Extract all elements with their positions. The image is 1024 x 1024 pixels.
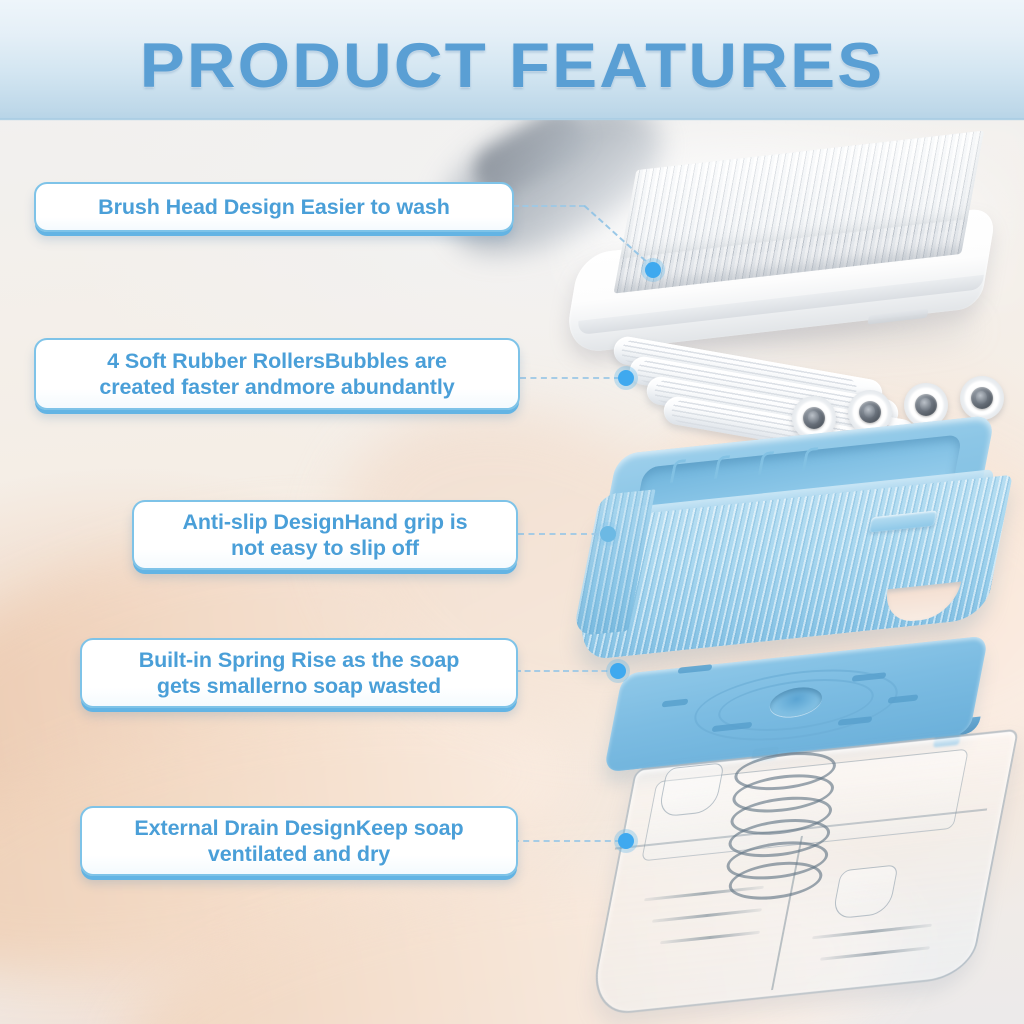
leader-dot-tray (610, 663, 626, 679)
leader-line-brush-head (513, 205, 585, 207)
roller-hub (859, 401, 881, 423)
brush-head-part (556, 148, 1016, 348)
feature-callout-external-drain[interactable]: External Drain DesignKeep soap ventilate… (80, 806, 518, 876)
feature-text-line: Built-in Spring Rise as the soap (139, 647, 460, 673)
feature-callout-anti-slip[interactable]: Anti-slip DesignHand grip is not easy to… (132, 500, 518, 570)
feature-text-line: 4 Soft Rubber RollersBubbles are (107, 348, 447, 374)
feature-text-line: gets smallerno soap wasted (157, 673, 441, 699)
feature-callout-spring[interactable]: Built-in Spring Rise as the soap gets sm… (80, 638, 518, 708)
leader-dot-rollers (618, 370, 634, 386)
leader-dot-brush-head (645, 262, 661, 278)
leader-line-tray (515, 670, 617, 672)
leader-line-base (513, 840, 621, 842)
roller-gear (960, 376, 1004, 420)
feature-text-line: ventilated and dry (208, 841, 390, 867)
roller-hub (971, 387, 993, 409)
roller-hub (915, 394, 937, 416)
feature-callout-brush-head[interactable]: Brush Head Design Easier to wash (34, 182, 514, 232)
feature-text-line: Brush Head Design Easier to wash (98, 194, 450, 220)
feature-callout-rollers[interactable]: 4 Soft Rubber RollersBubbles are created… (34, 338, 520, 410)
roller-hub (803, 407, 825, 429)
blue-body-part (588, 436, 1006, 666)
feature-text-line: created faster andmore abundantly (99, 374, 454, 400)
header-divider (0, 118, 1024, 121)
feature-text-line: External Drain DesignKeep soap (134, 815, 463, 841)
feature-text-line: Anti-slip DesignHand grip is (182, 509, 467, 535)
infographic-canvas: PRODUCT FEATURES (0, 0, 1024, 1024)
clear-base-part (600, 742, 1020, 1024)
page-title: PRODUCT FEATURES (0, 30, 1024, 102)
leader-dot-base (618, 833, 634, 849)
leader-line-rollers (520, 377, 620, 379)
leader-line-body (518, 533, 608, 535)
leader-dot-body (600, 526, 616, 542)
feature-text-line: not easy to slip off (231, 535, 419, 561)
built-in-spring (724, 748, 833, 890)
